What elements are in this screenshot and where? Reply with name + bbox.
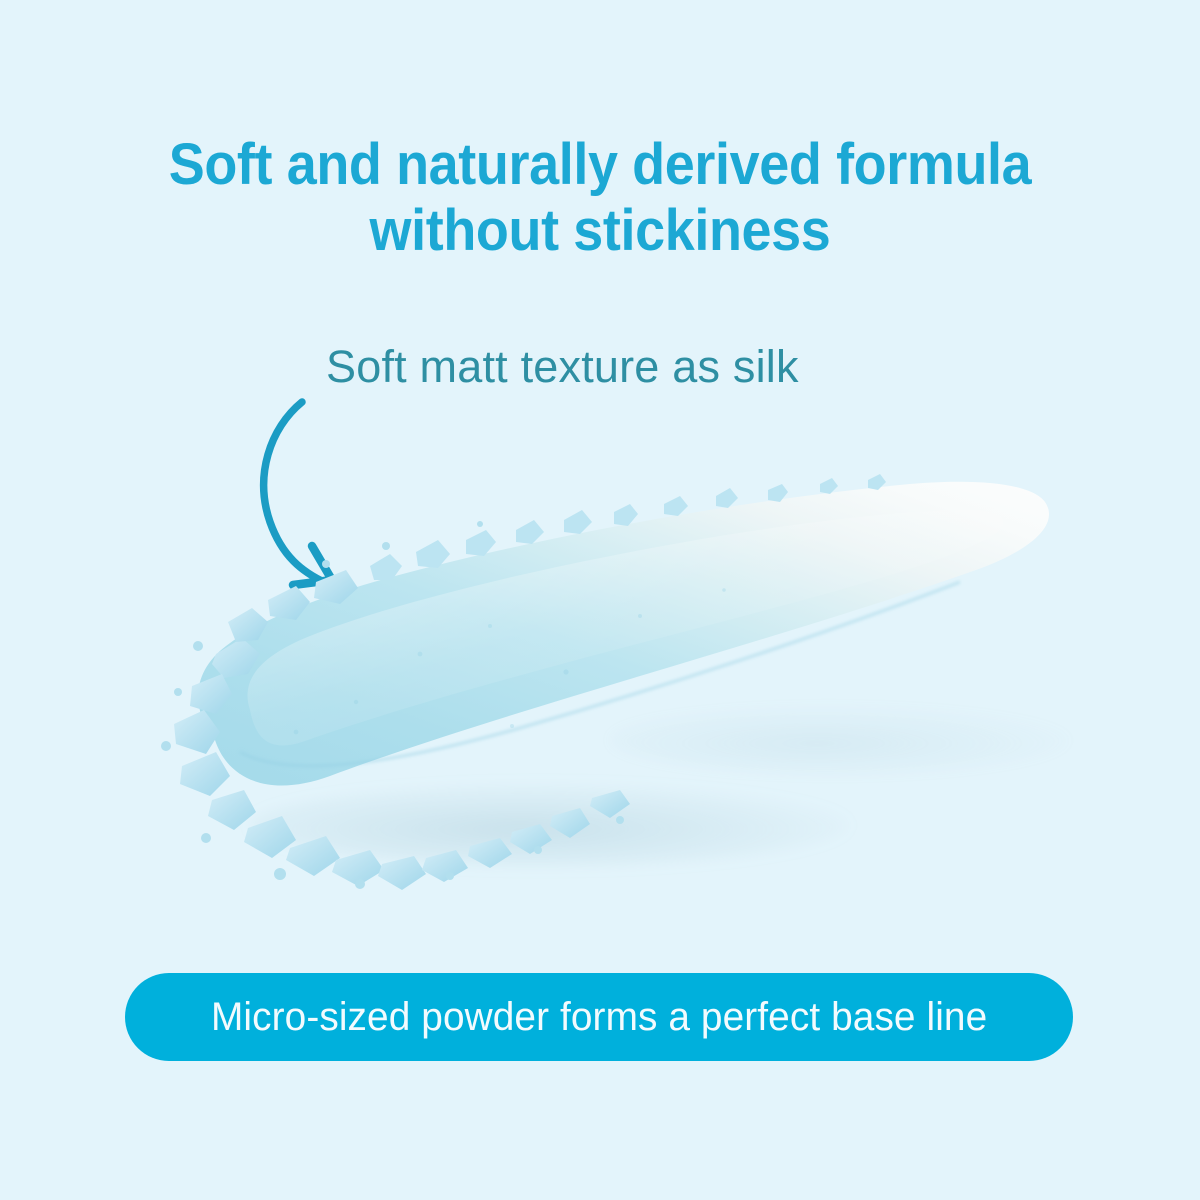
banner-text: Micro-sized powder forms a perfect base … [211,994,987,1040]
product-feature-card: Soft and naturally derived formula witho… [0,0,1200,1200]
page-title: Soft and naturally derived formula witho… [42,132,1158,264]
headline-line-2: without stickiness [42,198,1158,264]
headline-line-1: Soft and naturally derived formula [42,132,1158,198]
powder-swatch [120,440,1100,900]
status-badge: Micro-sized powder forms a perfect base … [125,973,1073,1061]
callout-label: Soft matt texture as silk [326,340,799,394]
